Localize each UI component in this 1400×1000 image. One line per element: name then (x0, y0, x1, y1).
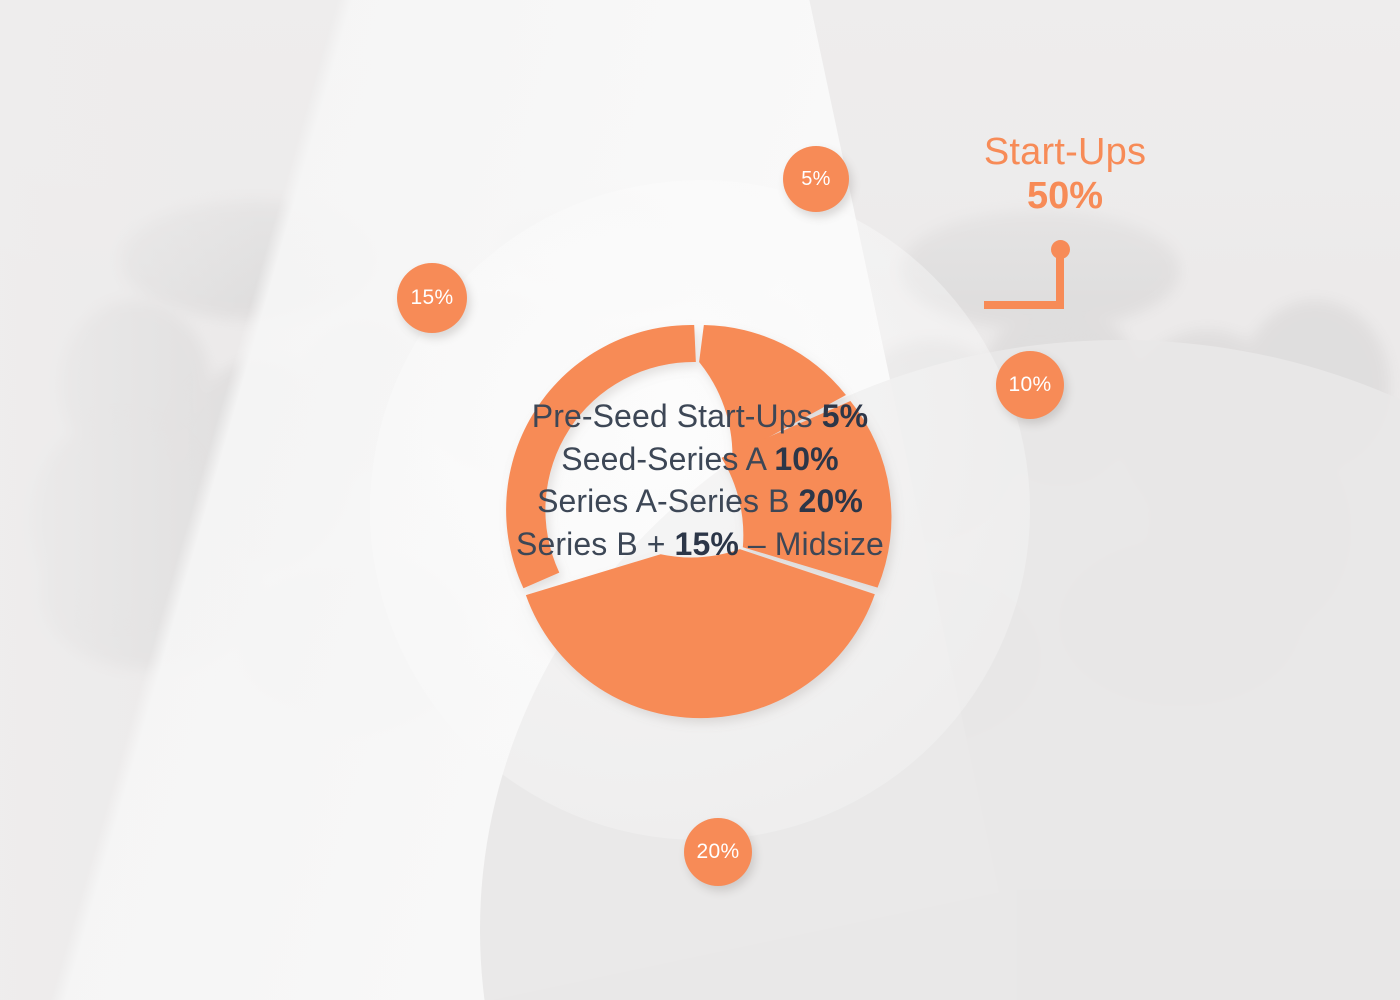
callout-title: Start-Ups (900, 132, 1230, 173)
center-text-block: Pre-Seed Start-Ups 5% Seed-Series A 10% … (400, 395, 1000, 565)
bubble-20-percent-label: 20% (697, 840, 740, 864)
center-line-2-value: 10% (774, 441, 838, 477)
donut-segment-20[interactable] (526, 549, 875, 718)
center-line-2-label: Seed-Series A (561, 441, 765, 477)
center-line-2: Seed-Series A 10% (400, 438, 1000, 481)
bubble-10-percent[interactable]: 10% (996, 351, 1064, 419)
bubble-20-percent[interactable]: 20% (684, 818, 752, 886)
bubble-15-percent[interactable]: 15% (397, 263, 467, 333)
center-line-4-value: 15% (675, 526, 739, 562)
callout-horizontal-connector (984, 301, 1064, 309)
bubble-10-percent-label: 10% (1009, 373, 1052, 397)
center-line-1: Pre-Seed Start-Ups 5% (400, 395, 1000, 438)
center-line-4-label: Series B + (516, 526, 666, 562)
center-line-3: Series A-Series B 20% (400, 480, 1000, 523)
bubble-5-percent[interactable]: 5% (783, 146, 849, 212)
center-line-4: Series B + 15% – Midsize (400, 523, 1000, 566)
callout-start-ups: Start-Ups 50% (900, 132, 1230, 221)
center-line-1-label: Pre-Seed Start-Ups (532, 398, 813, 434)
bubble-5-percent-label: 5% (801, 168, 831, 191)
center-line-3-label: Series A-Series B (537, 483, 789, 519)
center-line-4-suffix: – Midsize (739, 526, 884, 562)
center-line-3-value: 20% (799, 483, 863, 519)
infographic-canvas: Pre-Seed Start-Ups 5% Seed-Series A 10% … (0, 0, 1400, 1000)
center-line-1-value: 5% (822, 398, 868, 434)
callout-vertical-connector (1056, 249, 1064, 309)
callout-value: 50% (900, 173, 1230, 221)
bubble-15-percent-label: 15% (411, 286, 454, 310)
